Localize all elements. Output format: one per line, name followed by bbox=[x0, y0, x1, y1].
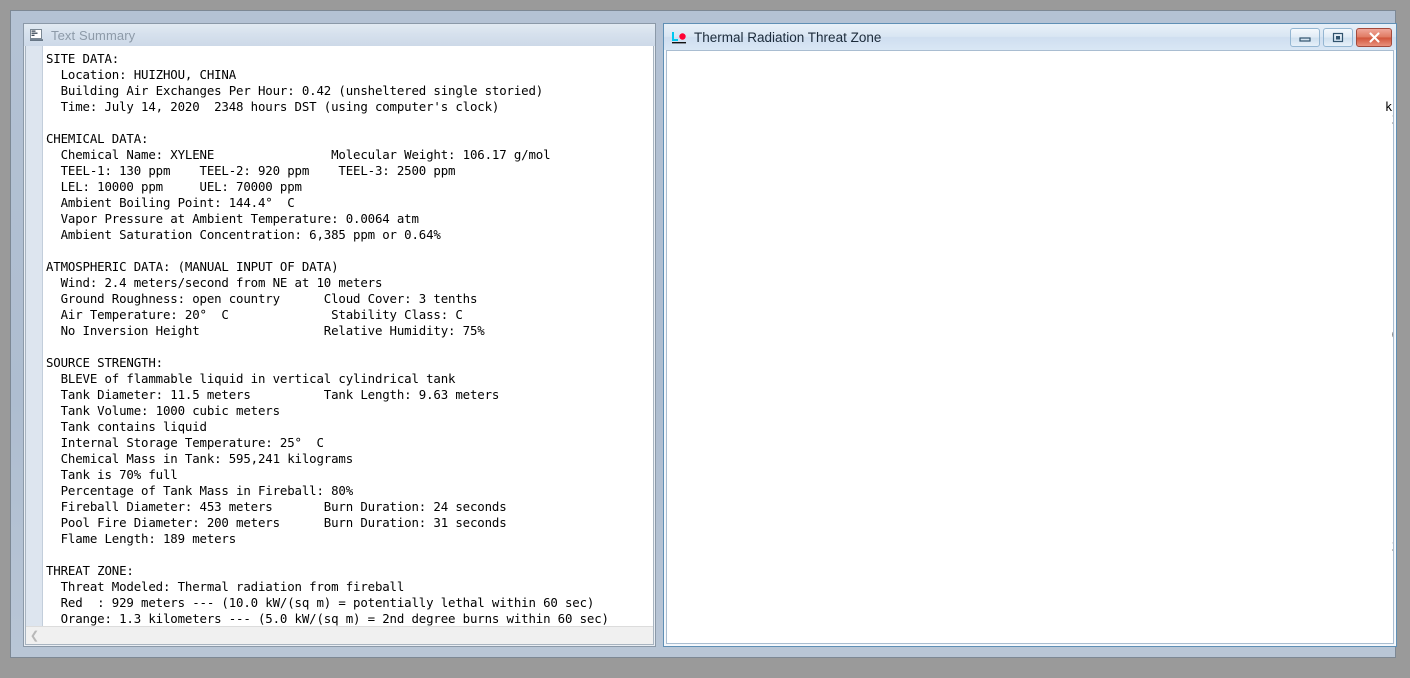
text-summary-window[interactable]: Text Summary SITE DATA: Location: HUIZHO… bbox=[23, 23, 656, 647]
text-summary-title: Text Summary bbox=[51, 28, 135, 43]
y-axis-label: kilometers bbox=[1385, 100, 1394, 114]
application-window: Text Summary SITE DATA: Location: HUIZHO… bbox=[0, 0, 1410, 678]
text-summary-report: SITE DATA: Location: HUIZHOU, CHINA Buil… bbox=[26, 46, 653, 626]
threat-zone-chart-panel: kilometers kilometers 3 1 0 1 3 4 2 0 2 … bbox=[666, 50, 1394, 644]
chevron-left-icon[interactable]: ❮ bbox=[26, 627, 43, 644]
minimize-button[interactable] bbox=[1290, 28, 1320, 47]
y-tick-3-top: 3 bbox=[1381, 113, 1394, 127]
y-tick-3-bottom: 3 bbox=[1381, 540, 1394, 554]
window-controls bbox=[1290, 28, 1392, 47]
thermal-radiation-threat-zone-window[interactable]: Thermal Radiation Threat Zone bbox=[663, 23, 1397, 647]
y-tick-0: 0 bbox=[1381, 328, 1394, 342]
maximize-button[interactable] bbox=[1323, 28, 1353, 47]
text-summary-left-gutter bbox=[26, 46, 43, 644]
threat-zone-icon bbox=[672, 31, 686, 44]
y-tick-1-bottom: 1 bbox=[1381, 399, 1394, 413]
text-summary-titlebar[interactable]: Text Summary bbox=[24, 24, 655, 46]
text-summary-body: SITE DATA: Location: HUIZHOU, CHINA Buil… bbox=[25, 46, 654, 645]
threat-window-title: Thermal Radiation Threat Zone bbox=[694, 30, 881, 45]
mdi-client-area: Text Summary SITE DATA: Location: HUIZHO… bbox=[10, 10, 1396, 658]
y-tick-1-top: 1 bbox=[1381, 257, 1394, 271]
close-button[interactable] bbox=[1356, 28, 1392, 47]
text-document-icon bbox=[30, 29, 44, 42]
threat-window-titlebar[interactable]: Thermal Radiation Threat Zone bbox=[664, 24, 1396, 50]
horizontal-scrollbar[interactable]: ❮ bbox=[26, 626, 653, 644]
